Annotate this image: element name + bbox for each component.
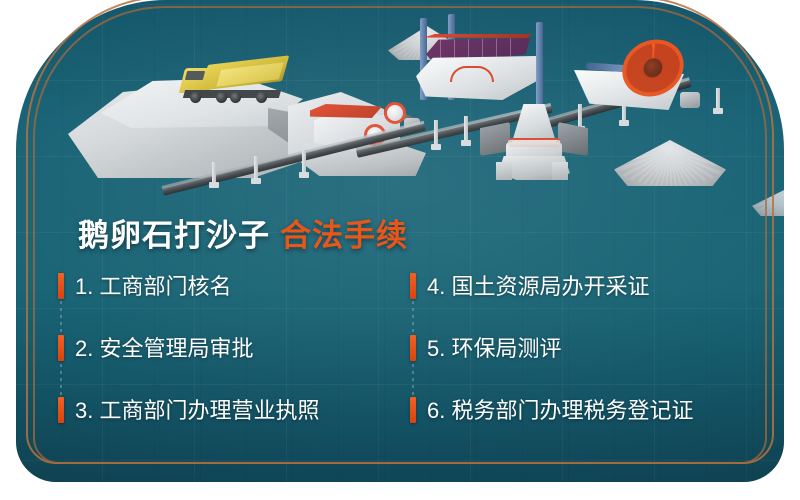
list-column-right: 4. 国土资源局办开采证 5. 环保局测评 6. 税务部门办理税务登记证 [410, 270, 760, 456]
conveyor-leg [464, 116, 468, 142]
page-title: 鹅卵石打沙子合法手续 [78, 210, 408, 255]
title-main: 鹅卵石打沙子 [78, 218, 270, 253]
bullet-bar-icon [410, 335, 416, 361]
list-item[interactable]: 4. 国土资源局办开采证 [410, 270, 760, 332]
list-item[interactable]: 1. 工商部门核名 [58, 270, 398, 332]
bullet-bar-icon [58, 273, 64, 299]
list-item[interactable]: 2. 安全管理局审批 [58, 332, 398, 394]
list-column-left: 1. 工商部门核名 2. 安全管理局审批 3. 工商部门办理营业执照 [58, 270, 398, 456]
list-item-label: 4. 国土资源局办开采证 [427, 269, 649, 301]
list-item[interactable]: 5. 环保局测评 [410, 332, 760, 394]
bullet-bar-icon [410, 397, 416, 423]
bullet-bar-icon [58, 397, 64, 423]
sand-washer-icon [564, 40, 704, 118]
conveyor-leg [302, 150, 306, 174]
production-line-scene [16, 0, 784, 200]
conveyor-leg [716, 88, 720, 110]
bullet-bar-icon [58, 335, 64, 361]
list-item-label: 2. 安全管理局审批 [75, 331, 253, 363]
text-content: 鹅卵石打沙子合法手续 1. 工商部门核名 2. 安全管理局审批 3. 工商部门办… [0, 196, 800, 496]
dump-truck-icon [176, 60, 286, 106]
conveyor-leg [434, 120, 438, 146]
poster-canvas: 鹅卵石打沙子合法手续 1. 工商部门核名 2. 安全管理局审批 3. 工商部门办… [0, 0, 800, 500]
bullet-bar-icon [410, 273, 416, 299]
list-item[interactable]: 3. 工商部门办理营业执照 [58, 394, 398, 456]
stockpile-icon [614, 140, 726, 186]
conveyor-leg [212, 162, 216, 184]
list-item-label: 3. 工商部门办理营业执照 [75, 393, 319, 425]
vibrating-screen-icon [416, 32, 546, 110]
title-accent: 合法手续 [280, 218, 408, 253]
list-item-label: 5. 环保局测评 [427, 331, 561, 363]
list-item-label: 6. 税务部门办理税务登记证 [427, 393, 693, 425]
conveyor-leg [254, 156, 258, 180]
list-item-label: 1. 工商部门核名 [75, 269, 231, 301]
list-item[interactable]: 6. 税务部门办理税务登记证 [410, 394, 760, 456]
